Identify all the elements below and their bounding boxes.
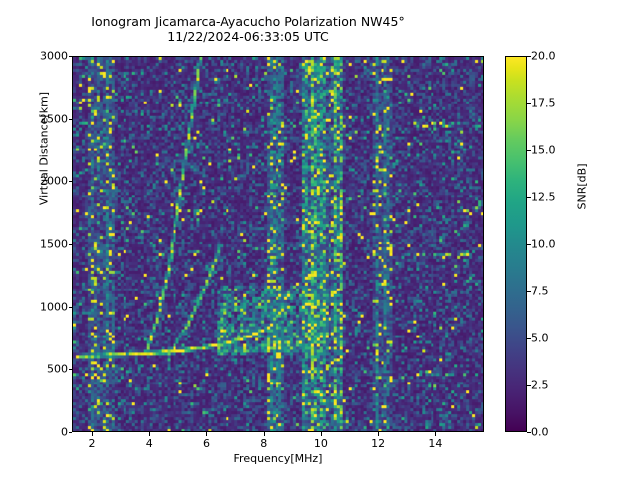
x-tick-label: 6 bbox=[176, 437, 236, 450]
x-tick-label: 4 bbox=[119, 437, 179, 450]
colorbar-tick-mark bbox=[527, 385, 531, 386]
colorbar-tick-mark bbox=[527, 291, 531, 292]
colorbar-tick-mark bbox=[527, 244, 531, 245]
colorbar-tick-label: 20.0 bbox=[531, 50, 591, 63]
x-tick-label: 2 bbox=[62, 437, 122, 450]
y-axis-label: Virtual Distance[km] bbox=[38, 59, 51, 239]
colorbar-tick-label: 0.0 bbox=[531, 426, 591, 439]
x-tick-label: 14 bbox=[405, 437, 465, 450]
colorbar-tick-label: 12.5 bbox=[531, 191, 591, 204]
x-tick-mark bbox=[149, 432, 150, 436]
colorbar-tick-label: 5.0 bbox=[531, 332, 591, 345]
colorbar-tick-label: 15.0 bbox=[531, 144, 591, 157]
colorbar bbox=[505, 56, 527, 432]
colorbar-tick-mark bbox=[527, 56, 531, 57]
colorbar-tick-label: 2.5 bbox=[531, 379, 591, 392]
y-tick-label: 2000 bbox=[0, 175, 68, 188]
y-tick-label: 1500 bbox=[0, 238, 68, 251]
colorbar-tick-mark bbox=[527, 150, 531, 151]
x-tick-mark bbox=[264, 432, 265, 436]
y-tick-mark bbox=[69, 307, 73, 308]
colorbar-tick-mark bbox=[527, 103, 531, 104]
y-tick-mark bbox=[69, 56, 73, 57]
x-tick-mark bbox=[321, 432, 322, 436]
chart-title: Ionogram Jicamarca-Ayacucho Polarization… bbox=[0, 14, 496, 44]
x-tick-label: 12 bbox=[348, 437, 408, 450]
y-tick-mark bbox=[69, 244, 73, 245]
y-tick-label: 1000 bbox=[0, 300, 68, 313]
y-tick-mark bbox=[69, 181, 73, 182]
x-tick-label: 8 bbox=[234, 437, 294, 450]
ionogram-figure: Ionogram Jicamarca-Ayacucho Polarization… bbox=[0, 0, 640, 480]
colorbar-label: SNR[dB] bbox=[576, 122, 589, 252]
y-tick-label: 3000 bbox=[0, 50, 68, 63]
colorbar-tick-mark bbox=[527, 338, 531, 339]
x-tick-mark bbox=[435, 432, 436, 436]
y-tick-mark bbox=[69, 369, 73, 370]
y-tick-label: 2500 bbox=[0, 112, 68, 125]
heatmap-plot-area bbox=[72, 56, 484, 432]
x-tick-mark bbox=[378, 432, 379, 436]
x-tick-mark bbox=[92, 432, 93, 436]
x-tick-mark bbox=[206, 432, 207, 436]
y-tick-label: 0 bbox=[0, 426, 68, 439]
x-tick-label: 10 bbox=[291, 437, 351, 450]
y-tick-label: 500 bbox=[0, 363, 68, 376]
colorbar-tick-mark bbox=[527, 197, 531, 198]
colorbar-tick-label: 10.0 bbox=[531, 238, 591, 251]
colorbar-tick-label: 17.5 bbox=[531, 97, 591, 110]
colorbar-tick-mark bbox=[527, 432, 531, 433]
ionogram-heatmap-canvas bbox=[73, 57, 483, 431]
x-axis-label: Frequency[MHz] bbox=[72, 452, 484, 465]
y-tick-mark bbox=[69, 119, 73, 120]
y-tick-mark bbox=[69, 432, 73, 433]
colorbar-tick-label: 7.5 bbox=[531, 285, 591, 298]
